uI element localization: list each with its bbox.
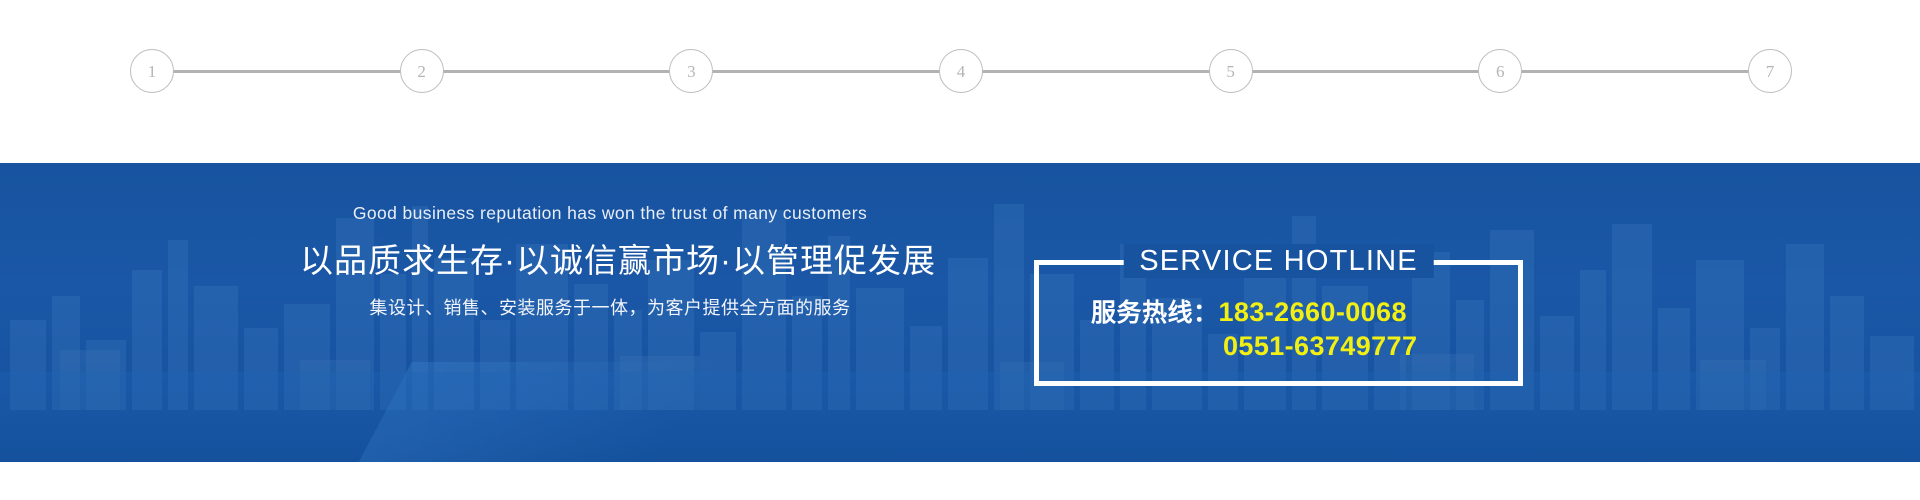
stepper-node-3[interactable]: 3	[669, 49, 713, 93]
stepper-strip: 1 2 3 4 5 6 7	[0, 0, 1920, 163]
stepper-node-1[interactable]: 1	[130, 49, 174, 93]
bottom-white-strip	[0, 462, 1920, 500]
stepper-node-4[interactable]: 4	[939, 49, 983, 93]
hotline-label: 服务热线：	[1091, 293, 1219, 329]
ground-watermark	[0, 372, 1920, 462]
hotline-number-list: 服务热线： 183-2660-0068 0551-63749777	[1039, 293, 1518, 369]
service-hotline-box: SERVICE HOTLINE 服务热线： 183-2660-0068 0551…	[1034, 260, 1523, 386]
slogan-block: Good business reputation has won the tru…	[300, 203, 920, 320]
stepper-node-5[interactable]: 5	[1209, 49, 1253, 93]
page-root: 1 2 3 4 5 6 7	[0, 0, 1920, 500]
progress-stepper: 1 2 3 4 5 6 7	[130, 48, 1792, 94]
hotline-number-primary[interactable]: 183-2660-0068	[1219, 297, 1407, 328]
hotline-number-secondary[interactable]: 0551-63749777	[1223, 331, 1417, 362]
road-watermark	[348, 362, 832, 462]
city-skyline-watermark	[0, 200, 1920, 410]
stepper-node-2[interactable]: 2	[400, 49, 444, 93]
hotline-row-secondary: 0551-63749777	[1039, 331, 1518, 369]
slogan-headline: 以品质求生存·以诚信赢市场·以管理促发展	[300, 234, 920, 282]
slogan-subline: 集设计、销售、安装服务于一体，为客户提供全方面的服务	[300, 294, 920, 320]
blue-banner: Good business reputation has won the tru…	[0, 163, 1920, 462]
stepper-node-6[interactable]: 6	[1478, 49, 1522, 93]
service-hotline-title: SERVICE HOTLINE	[1123, 244, 1434, 278]
stepper-node-7[interactable]: 7	[1748, 49, 1792, 93]
hotline-row-primary: 服务热线： 183-2660-0068	[1039, 293, 1518, 331]
slogan-english: Good business reputation has won the tru…	[300, 203, 920, 224]
